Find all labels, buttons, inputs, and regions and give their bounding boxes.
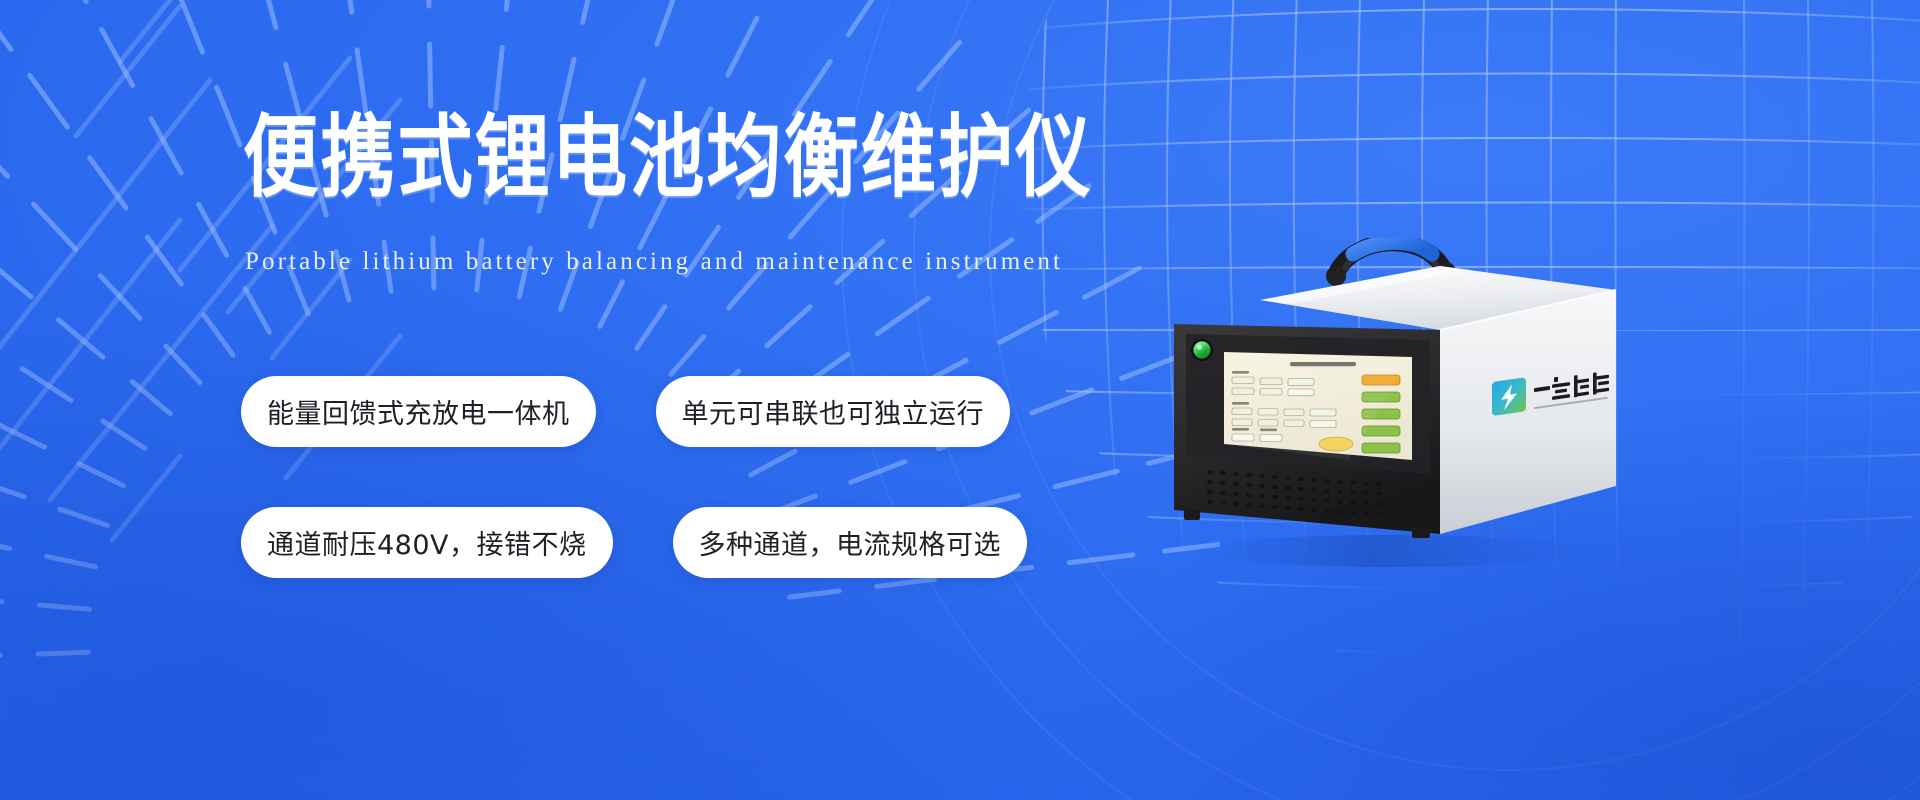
front-panel — [1174, 324, 1440, 538]
feature-pill-row: 通道耐压480V，接错不烧 多种通道，电流规格可选 — [241, 507, 941, 578]
banner-content: 便携式锂电池均衡维护仪 Portable lithium battery bal… — [0, 0, 1920, 800]
promotional-banner: 便携式锂电池均衡维护仪 Portable lithium battery bal… — [0, 0, 1920, 800]
feature-pill-group: 能量回馈式充放电一体机 单元可串联也可独立运行 通道耐压480V，接错不烧 多种… — [241, 376, 941, 578]
page-subtitle: Portable lithium battery balancing and m… — [245, 248, 1063, 276]
device-shadow — [1196, 535, 1588, 567]
power-led — [1191, 339, 1213, 361]
feature-pill[interactable]: 单元可串联也可独立运行 — [656, 376, 1011, 447]
feature-pill[interactable]: 通道耐压480V，接错不烧 — [241, 507, 613, 578]
feature-pill[interactable]: 能量回馈式充放电一体机 — [241, 376, 596, 447]
feature-pill[interactable]: 多种通道，电流规格可选 — [673, 507, 1028, 578]
feature-pill-row: 能量回馈式充放电一体机 单元可串联也可独立运行 — [241, 376, 941, 447]
product-device-image — [1140, 238, 1640, 598]
page-title: 便携式锂电池均衡维护仪 — [243, 110, 1134, 204]
device-foot — [1184, 510, 1200, 520]
device-foot — [1412, 528, 1430, 538]
